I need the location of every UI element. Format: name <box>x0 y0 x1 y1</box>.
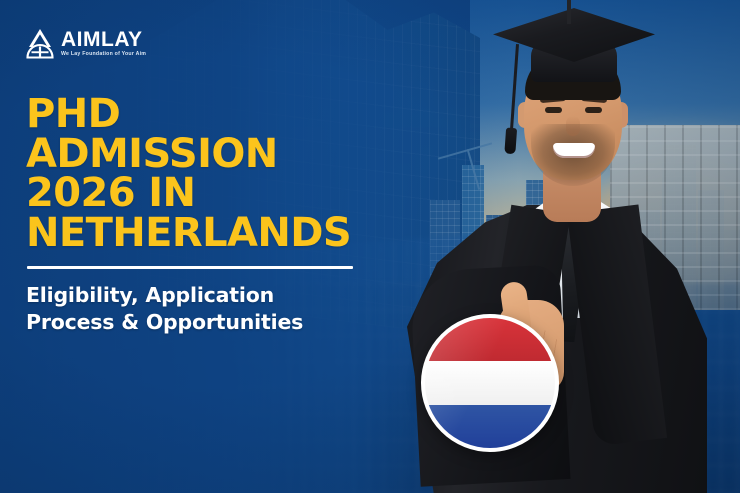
aimlay-arch-logo-icon <box>25 27 55 59</box>
banner-copy: PHD ADMISSION 2026 IN NETHERLANDS Eligib… <box>26 95 376 335</box>
page-subtitle: Eligibility, Application Process & Oppor… <box>26 282 376 334</box>
aimlay-logo-text: AIMLAY We Lay Foundation of Your Aim <box>61 29 146 58</box>
flag-band-red <box>425 318 555 361</box>
graduation-cap-button <box>567 0 571 24</box>
title-divider <box>27 266 353 269</box>
aimlay-logo[interactable]: AIMLAY We Lay Foundation of Your Aim <box>25 27 146 59</box>
headline-line-3: 2026 IN <box>26 174 376 214</box>
brand-tagline: We Lay Foundation of Your Aim <box>61 52 146 57</box>
netherlands-flag-icon <box>421 314 559 452</box>
headline-line-4: NETHERLANDS <box>26 214 376 254</box>
subheadline-line-1: Eligibility, Application <box>26 282 376 308</box>
headline-line-2: ADMISSION <box>26 135 376 175</box>
brand-name: AIMLAY <box>61 29 146 50</box>
flag-band-blue <box>425 405 555 448</box>
page-title: PHD ADMISSION 2026 IN NETHERLANDS <box>26 95 376 253</box>
phd-admission-banner: AIMLAY We Lay Foundation of Your Aim PHD… <box>0 0 740 493</box>
subheadline-line-2: Process & Opportunities <box>26 309 376 335</box>
headline-line-1: PHD <box>26 95 376 135</box>
smile <box>553 143 595 158</box>
eye-left <box>545 107 562 113</box>
nose <box>566 116 580 136</box>
flag-band-white <box>425 361 555 404</box>
eye-right <box>585 107 602 113</box>
